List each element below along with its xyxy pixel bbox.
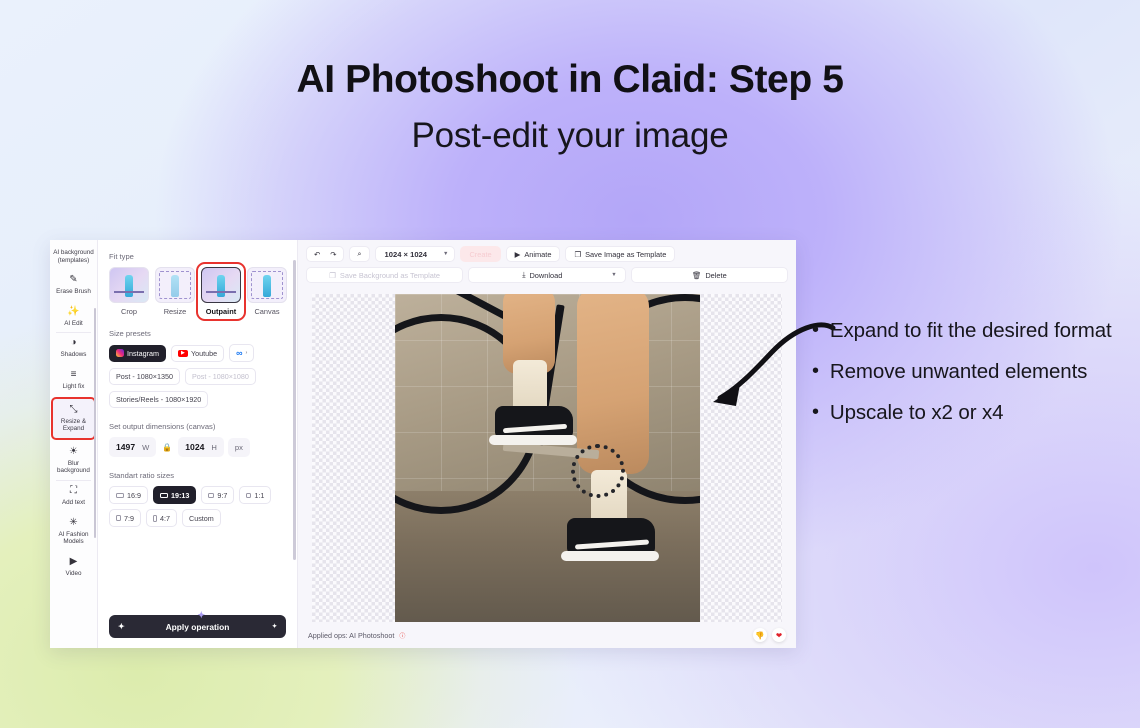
heart-icon[interactable]: ❤ [772, 628, 786, 642]
fit-type-options: Crop Resize Outpaint [109, 267, 286, 316]
resize-expand-icon: ⤡ [55, 404, 92, 416]
toolbar-row-primary: ↶ ↷ ⌕ 1024 × 1024 ▼ Create ▶ Animate [306, 246, 788, 262]
sparkle-icon: ✦ [198, 610, 206, 621]
ratio-1-1[interactable]: 1:1 [239, 486, 271, 504]
standard-ratios-label: Standart ratio sizes [109, 471, 286, 480]
ratio-shape-icon [116, 515, 121, 521]
fit-option-label: Outpaint [201, 307, 241, 316]
sidebar-item-label: AI Edit [52, 320, 95, 328]
zoom-button[interactable]: ⌕ [349, 246, 369, 262]
canvas-dimensions-value: 1024 × 1024 [385, 250, 427, 259]
preset-size-label: Post - 1080×1080 [192, 372, 249, 381]
trash-icon: 🗑 [692, 271, 701, 280]
sparkle-icon: ✦ [118, 622, 125, 631]
size-preset-values: Post - 1080×1350 Post - 1080×1080 [109, 368, 286, 385]
canvas-thumbnail [247, 267, 287, 303]
sidebar-item-label: AI Fashion Models [52, 531, 95, 546]
callout-list: • Expand to fit the desired format • Rem… [812, 310, 1132, 433]
height-field[interactable]: 1024 H [178, 437, 224, 457]
settings-panel: Fit type Crop Resize [98, 240, 298, 648]
ratio-shape-icon [208, 493, 214, 498]
preset-size-post-1080x1080: Post - 1080×1080 [185, 368, 256, 385]
create-button: Create [460, 246, 500, 262]
sidebar-item-resize-expand[interactable]: ⤡ Resize & Expand [51, 397, 96, 440]
sidebar-item-label: Light fix [52, 383, 95, 391]
preset-brand-label: Instagram [127, 349, 159, 358]
output-dimensions-row: 1497 W 🔒 1024 H px [109, 437, 286, 457]
download-button[interactable]: ⤓ Download ▼ [468, 267, 625, 283]
history-button-group: ↶ ↷ [306, 246, 344, 262]
preset-size-label: Stories/Reels - 1080×1920 [116, 395, 201, 404]
toolbar-row-secondary: ❐ Save Background as Template ⤓ Download… [306, 267, 788, 283]
fit-option-label: Crop [109, 307, 149, 316]
animate-button-label: Animate [524, 250, 551, 259]
output-dimensions-label: Set output dimensions (canvas) [109, 422, 286, 431]
callout-label: Remove unwanted elements [830, 351, 1087, 392]
ratio-label: 9:7 [217, 491, 227, 500]
callout-label: Upscale to x2 or x4 [830, 392, 1004, 433]
crop-thumbnail [109, 267, 149, 303]
page-title: AI Photoshoot in Claid: Step 5 [0, 58, 1140, 102]
ratio-label: 16:9 [127, 491, 141, 500]
add-text-icon: ⛶ [52, 485, 95, 497]
fit-option-label: Canvas [247, 307, 287, 316]
editor-toolbar: ↶ ↷ ⌕ 1024 × 1024 ▼ Create ▶ Animate [298, 240, 796, 288]
editor-statusbar: Applied ops: AI Photoshoot ⓘ 👎 ❤ [298, 622, 796, 648]
bullet-icon: • [812, 310, 819, 351]
apply-operation-label: Apply operation [166, 622, 230, 632]
preset-size-label: Post - 1080×1350 [116, 372, 173, 381]
ratio-shape-icon [116, 493, 124, 498]
chevron-down-icon: ▼ [611, 272, 616, 278]
product-photo [395, 294, 700, 622]
outpaint-thumbnail [201, 267, 241, 303]
save-image-as-template-label: Save Image as Template [585, 250, 666, 259]
save-background-as-template-button: ❐ Save Background as Template [306, 267, 463, 283]
undo-icon[interactable]: ↶ [314, 250, 320, 259]
magic-wand-icon: ✨ [52, 306, 95, 318]
ratio-label: 19:13 [171, 491, 189, 500]
callout-item-upscale: • Upscale to x2 or x4 [812, 392, 1132, 433]
bicycle-chainring [571, 444, 625, 498]
sidebar-item-ai-fashion-models[interactable]: ✳ AI Fashion Models [50, 512, 97, 551]
sidebar-item-shadows[interactable]: ◑ Shadows [50, 332, 97, 364]
sidebar-item-label: Add text [52, 499, 95, 507]
sidebar-item-label: Shadows [52, 351, 95, 359]
sidebar-item-erase-brush[interactable]: ✎ Erase Brush [50, 269, 97, 301]
fit-option-outpaint[interactable]: Outpaint [201, 267, 241, 316]
rail-scrollbar[interactable] [94, 308, 97, 538]
save-template-icon: ❐ [574, 250, 581, 259]
ratio-label: 4:7 [160, 514, 170, 523]
callout-item-expand: • Expand to fit the desired format [812, 310, 1132, 351]
sidebar-item-ai-background[interactable]: AI background (templates) [50, 242, 97, 269]
save-image-as-template-button[interactable]: ❐ Save Image as Template [565, 246, 675, 262]
tools-rail: AI background (templates) ✎ Erase Brush … [50, 240, 98, 648]
sidebar-item-label: Blur background [52, 460, 95, 475]
resize-thumbnail [155, 267, 195, 303]
ratio-4-7[interactable]: 4:7 [146, 509, 177, 527]
sneaker-right [567, 518, 655, 554]
height-unit-label: H [211, 443, 216, 452]
bullet-icon: • [812, 351, 819, 392]
width-unit-label: W [142, 443, 149, 452]
width-value: 1497 [116, 442, 135, 452]
page-subtitle: Post-edit your image [0, 116, 1140, 155]
animate-button[interactable]: ▶ Animate [506, 246, 561, 262]
size-preset-brands: Instagram ▶ Youtube ∞ › [109, 344, 286, 362]
create-button-label: Create [469, 250, 491, 259]
shadow-icon: ◑ [52, 337, 95, 349]
fit-option-resize[interactable]: Resize [155, 267, 195, 316]
delete-button-label: Delete [705, 271, 726, 280]
download-button-label: Download [529, 271, 562, 280]
callout-item-remove: • Remove unwanted elements [812, 351, 1132, 392]
ratio-16-9[interactable]: 16:9 [109, 486, 148, 504]
blur-icon: ☀ [52, 446, 95, 458]
preset-brand-label: Youtube [191, 349, 217, 358]
standard-ratio-options: 16:9 19:13 9:7 1:1 7:9 [109, 486, 286, 527]
lock-icon[interactable]: 🔒 [160, 443, 174, 452]
app-window: AI background (templates) ✎ Erase Brush … [50, 240, 796, 648]
fit-option-canvas[interactable]: Canvas [247, 267, 287, 316]
zoom-icon: ⌕ [357, 249, 361, 259]
download-icon: ⤓ [522, 270, 525, 280]
ratio-19-13[interactable]: 19:13 [153, 486, 196, 504]
preset-size-post-1080x1350[interactable]: Post - 1080×1350 [109, 368, 180, 385]
sidebar-item-light-fix[interactable]: ≡ Light fix [50, 364, 97, 396]
sidebar-item-ai-edit[interactable]: ✨ AI Edit [50, 301, 97, 333]
thumbs-down-icon[interactable]: 👎 [753, 628, 767, 642]
save-background-as-template-label: Save Background as Template [340, 271, 440, 280]
sidebar-item-add-text[interactable]: ⛶ Add text [50, 480, 97, 512]
sidebar-item-blur-background[interactable]: ☀ Blur background [50, 441, 97, 480]
instagram-icon [116, 349, 124, 357]
sidebar-item-label: Erase Brush [52, 288, 95, 296]
sidebar-item-label: AI background (templates) [52, 249, 95, 264]
fit-option-label: Resize [155, 307, 195, 316]
video-icon: ▶ [52, 556, 95, 568]
fit-type-label: Fit type [109, 252, 286, 261]
youtube-icon: ▶ [178, 350, 188, 357]
sneaker-left [495, 406, 573, 438]
preset-size-stories-reels[interactable]: Stories/Reels - 1080×1920 [109, 391, 208, 408]
animate-icon: ▶ [515, 250, 521, 259]
ratio-custom[interactable]: Custom [182, 509, 221, 527]
size-presets-label: Size presets [109, 329, 286, 338]
width-field[interactable]: 1497 W [109, 437, 156, 457]
ratio-9-7[interactable]: 9:7 [201, 486, 234, 504]
info-badge-icon[interactable]: ⓘ [399, 631, 405, 640]
ratio-7-9[interactable]: 7:9 [109, 509, 141, 527]
sidebar-item-video[interactable]: ▶ Video [50, 551, 97, 583]
settings-scrollbar[interactable] [293, 260, 296, 560]
fit-option-crop[interactable]: Crop [109, 267, 149, 316]
sliders-icon: ≡ [52, 369, 95, 381]
canvas-dimensions-dropdown[interactable]: 1024 × 1024 ▼ [375, 246, 456, 262]
ratio-label: Custom [189, 514, 214, 523]
preset-brand-meta[interactable]: ∞ › [229, 344, 254, 362]
unit-label: px [235, 443, 243, 452]
ratio-shape-icon [160, 493, 168, 498]
meta-icon: ∞ [236, 348, 242, 358]
preset-brand-youtube[interactable]: ▶ Youtube [171, 345, 224, 362]
chevron-down-icon: ▼ [443, 251, 448, 257]
ratio-shape-icon [153, 515, 157, 522]
sidebar-item-label: Resize & Expand [55, 418, 92, 433]
apply-operation-button[interactable]: ✦ ✦ Apply operation ✦ [109, 615, 286, 638]
ratio-label: 7:9 [124, 514, 134, 523]
applied-ops-text: Applied ops: AI Photoshoot [308, 631, 394, 640]
slide-heading: AI Photoshoot in Claid: Step 5 Post-edit… [0, 58, 1140, 155]
bullet-icon: • [812, 392, 819, 433]
ratio-label: 1:1 [254, 491, 264, 500]
save-bg-template-icon: ❐ [329, 271, 336, 280]
fashion-model-icon: ✳ [52, 517, 95, 529]
preset-brand-instagram[interactable]: Instagram [109, 345, 166, 362]
sparkle-icon: ✦ [272, 623, 277, 630]
preset-next-arrow[interactable]: › [246, 350, 248, 356]
height-value: 1024 [185, 442, 204, 452]
unit-selector[interactable]: px [228, 438, 250, 457]
delete-button[interactable]: 🗑 Delete [631, 267, 788, 283]
redo-icon[interactable]: ↷ [330, 250, 336, 259]
callout-label: Expand to fit the desired format [830, 310, 1112, 351]
brush-icon: ✎ [52, 274, 95, 286]
editor-area: ↶ ↷ ⌕ 1024 × 1024 ▼ Create ▶ Animate [298, 240, 796, 648]
sidebar-item-label: Video [52, 570, 95, 578]
ratio-shape-icon [246, 493, 251, 498]
